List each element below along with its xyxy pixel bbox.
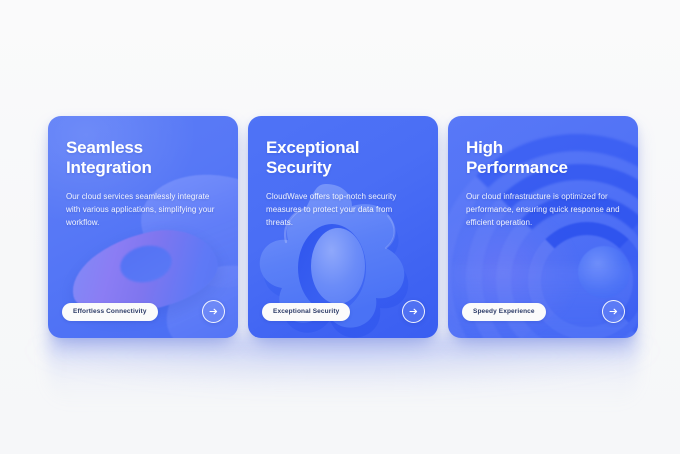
card-content: High Performance Our cloud infrastructur… (448, 116, 638, 230)
card-footer: Exceptional Security (262, 300, 425, 323)
feature-card-exceptional-security[interactable]: Exceptional Security CloudWave offers to… (248, 116, 438, 338)
arrow-right-icon (408, 306, 419, 317)
feature-card-seamless-integration[interactable]: Seamless Integration Our cloud services … (48, 116, 238, 338)
arrow-right-icon (208, 306, 219, 317)
card-title: Seamless Integration (66, 138, 220, 178)
card-content: Exceptional Security CloudWave offers to… (248, 116, 438, 230)
card-content: Seamless Integration Our cloud services … (48, 116, 238, 230)
card-description: Our cloud infrastructure is optimized fo… (466, 191, 620, 230)
card-footer: Effortless Connectivity (62, 300, 225, 323)
card-tag-pill[interactable]: Speedy Experience (462, 303, 546, 321)
card-tag-pill[interactable]: Effortless Connectivity (62, 303, 158, 321)
card-arrow-button[interactable] (602, 300, 625, 323)
card-description: Our cloud services seamlessly integrate … (66, 191, 220, 230)
feature-card-high-performance[interactable]: High Performance Our cloud infrastructur… (448, 116, 638, 338)
card-description: CloudWave offers top-notch security meas… (266, 191, 420, 230)
card-title: Exceptional Security (266, 138, 420, 178)
page-stage: Seamless Integration Our cloud services … (0, 0, 680, 454)
card-tag-pill[interactable]: Exceptional Security (262, 303, 350, 321)
card-arrow-button[interactable] (402, 300, 425, 323)
card-row-glow (30, 344, 655, 390)
arrow-right-icon (608, 306, 619, 317)
card-footer: Speedy Experience (462, 300, 625, 323)
card-row-reflection (48, 336, 638, 408)
feature-card-list: Seamless Integration Our cloud services … (48, 116, 638, 338)
card-arrow-button[interactable] (202, 300, 225, 323)
card-title: High Performance (466, 138, 620, 178)
